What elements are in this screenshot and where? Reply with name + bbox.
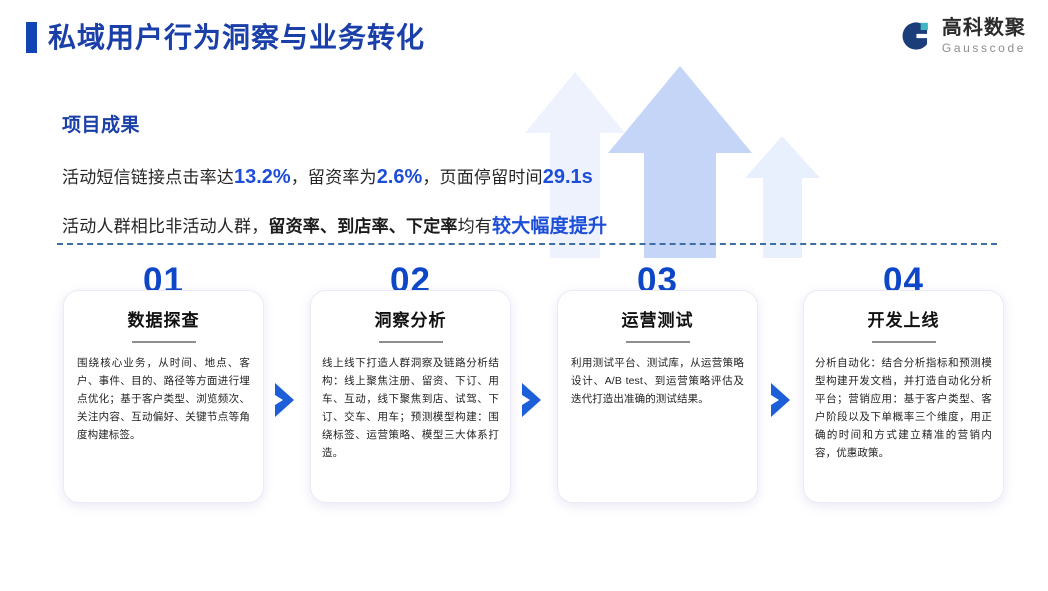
step-rule-02 [379, 341, 443, 343]
step-02[interactable]: 02 洞察分析 线上线下打造人群洞察及链路分析结构：线上聚焦注册、留资、下订、用… [310, 262, 511, 510]
metric-click-rate: 13.2% [234, 166, 291, 188]
step-card-03[interactable]: 运营测试 利用测试平台、测试库，从运营策略设计、A/B test、到运营策略评估… [557, 290, 758, 503]
process-steps-row: 01 数据探查 围绕核心业务，从时间、地点、客户、事件、目的、路径等方面进行埋点… [0, 262, 1048, 512]
gausscode-ring-icon [899, 19, 933, 53]
step-01[interactable]: 01 数据探查 围绕核心业务，从时间、地点、客户、事件、目的、路径等方面进行埋点… [63, 262, 264, 510]
comparison-highlight: 较大幅度提升 [492, 216, 607, 237]
step-title-03: 运营测试 [558, 306, 757, 331]
section-divider [57, 243, 997, 245]
step-rule-04 [872, 341, 936, 343]
step-card-01[interactable]: 数据探查 围绕核心业务，从时间、地点、客户、事件、目的、路径等方面进行埋点优化；… [63, 290, 264, 503]
step-card-02[interactable]: 洞察分析 线上线下打造人群洞察及链路分析结构：线上聚焦注册、留资、下订、用车、互… [310, 290, 511, 503]
step-rule-01 [132, 341, 196, 343]
step-card-04[interactable]: 开发上线 分析自动化：结合分析指标和预测模型构建开发文档，并打造自动化分析平台；… [803, 290, 1004, 503]
chevron-right-icon-1 [272, 383, 298, 417]
result-seg-2: ，留资率为 [291, 168, 377, 187]
comparison-seg-1: 活动人群相比非活动人群， [62, 217, 268, 236]
logo-name-en: Gausscode [942, 42, 1026, 54]
step-body-03: 利用测试平台、测试库，从运营策略设计、A/B test、到运营策略评估及迭代打造… [571, 354, 744, 408]
result-seg-1: 活动短信链接点击率达 [62, 168, 234, 187]
brand-logo: 高科数聚 Gausscode [899, 18, 1026, 54]
results-heading: 项目成果 [62, 110, 702, 137]
step-body-04: 分析自动化：结合分析指标和预测模型构建开发文档，并打造自动化分析平台；营销应用：… [815, 354, 992, 462]
step-03[interactable]: 03 运营测试 利用测试平台、测试库，从运营策略设计、A/B test、到运营策… [557, 262, 758, 510]
logo-text-group: 高科数聚 Gausscode [942, 18, 1026, 54]
result-seg-3: ，页面停留时间 [422, 168, 542, 187]
project-results-block: 项目成果 活动短信链接点击率达13.2%，留资率为2.6%，页面停留时间29.1… [62, 110, 702, 260]
step-body-01: 围绕核心业务，从时间、地点、客户、事件、目的、路径等方面进行埋点优化；基于客户类… [77, 354, 250, 444]
step-04[interactable]: 04 开发上线 分析自动化：结合分析指标和预测模型构建开发文档，并打造自动化分析… [803, 262, 1004, 510]
metric-dwell-time: 29.1s [543, 166, 593, 188]
metric-lead-rate: 2.6% [377, 166, 423, 188]
slide-canvas: 私域用户行为洞察与业务转化 高科数聚 Gausscode 项目成果 活动短信链接… [0, 0, 1048, 591]
slide-header: 私域用户行为洞察与业务转化 高科数聚 Gausscode [0, 0, 1048, 76]
chevron-right-icon-3 [768, 383, 794, 417]
chevron-right-icon-2 [519, 383, 545, 417]
page-title: 私域用户行为洞察与业务转化 [48, 18, 425, 58]
step-title-01: 数据探查 [64, 306, 263, 331]
title-accent-bar [26, 22, 37, 53]
logo-name-cn: 高科数聚 [942, 18, 1026, 38]
arrow-right-decor-icon [745, 136, 820, 258]
step-rule-03 [626, 341, 690, 343]
step-body-02: 线上线下打造人群洞察及链路分析结构：线上聚焦注册、留资、下订、用车、互动，线下聚… [322, 354, 499, 462]
step-title-02: 洞察分析 [311, 306, 510, 331]
comparison-metrics-list: 留资率、到店率、下定率 [268, 217, 457, 236]
comparison-seg-2: 均有 [458, 217, 492, 236]
result-line-comparison: 活动人群相比非活动人群，留资率、到店率、下定率均有较大幅度提升 [62, 211, 702, 238]
step-title-04: 开发上线 [804, 306, 1003, 331]
result-line-metrics: 活动短信链接点击率达13.2%，留资率为2.6%，页面停留时间29.1s [62, 163, 702, 189]
